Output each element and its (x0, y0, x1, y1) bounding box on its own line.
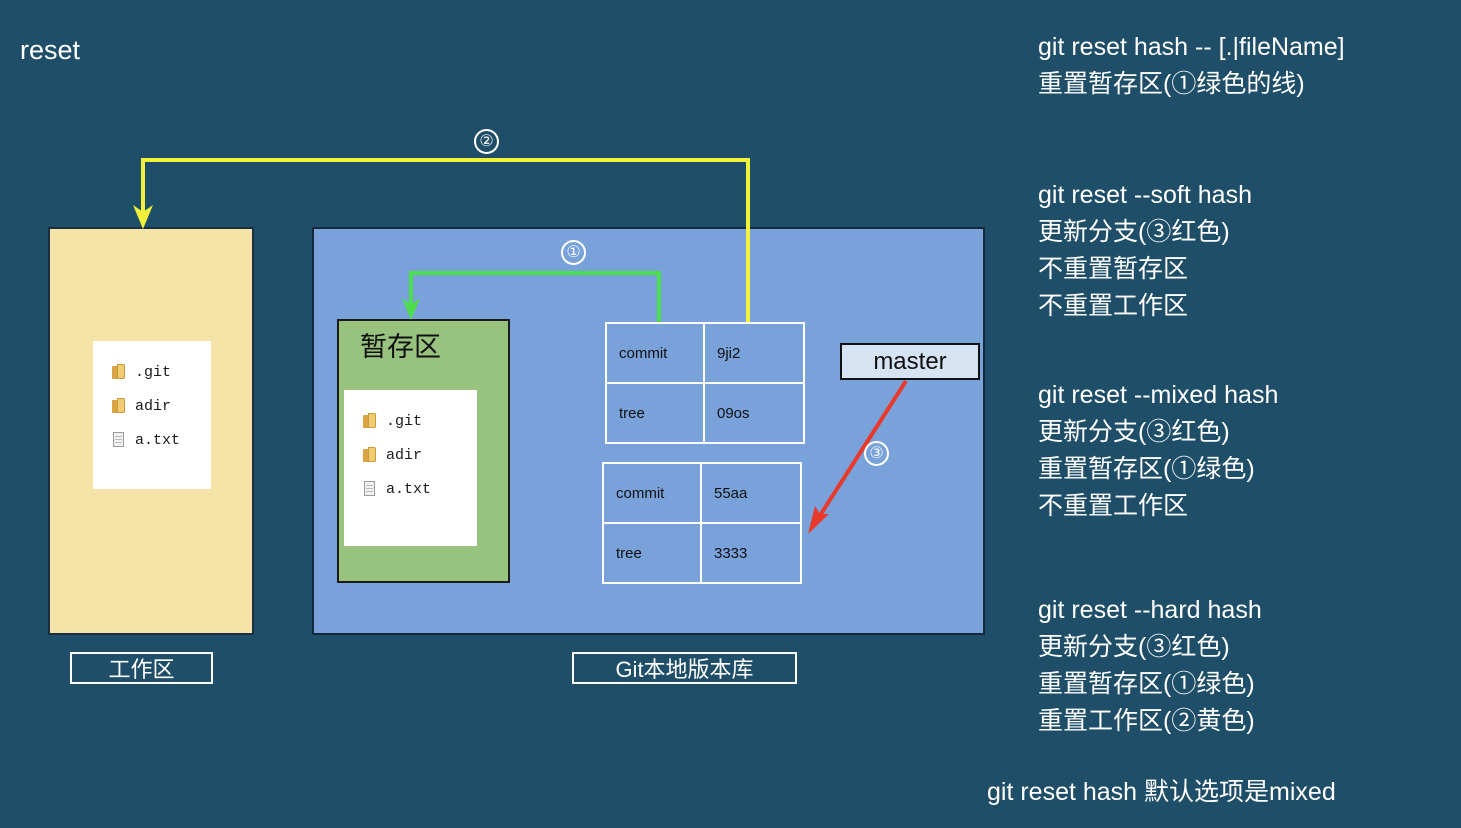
list-item: a.txt (111, 423, 211, 457)
diagram-canvas: reset .git adir a.txt 暂存区 .git (0, 0, 1461, 828)
note-line: 不重置暂存区 (1038, 251, 1252, 288)
list-item: a.txt (362, 472, 477, 506)
working-file-list: .git adir a.txt (93, 341, 211, 457)
note-line: 重置工作区(②黄色) (1038, 703, 1262, 740)
table-row: tree 09os (606, 383, 804, 443)
file-name: .git (135, 364, 171, 381)
folder-icon (111, 397, 127, 415)
file-name: adir (386, 447, 422, 464)
list-item: adir (362, 438, 477, 472)
note-line: 更新分支(③红色) (1038, 214, 1252, 251)
marker-three: ③ (864, 441, 889, 466)
caption-repository: Git本地版本库 (572, 652, 797, 684)
commit-value: 9ji2 (704, 323, 804, 383)
commit-object-table: commit 55aa tree 3333 (602, 462, 802, 584)
file-name: adir (135, 398, 171, 415)
note-line: 重置暂存区(①绿色) (1038, 666, 1262, 703)
list-item: adir (111, 389, 211, 423)
list-item: .git (111, 355, 211, 389)
note-line: 更新分支(③红色) (1038, 414, 1278, 451)
caption-working-area: 工作区 (70, 652, 213, 684)
note-line: 重置暂存区(①绿色) (1038, 451, 1278, 488)
folder-icon (362, 412, 378, 430)
page-title: reset (20, 34, 80, 66)
tree-value: 3333 (701, 523, 801, 583)
list-item: .git (362, 404, 477, 438)
note-line: git reset hash -- [.|fileName] (1038, 29, 1345, 66)
note-block-soft: git reset --soft hash 更新分支(③红色) 不重置暂存区 不… (1038, 177, 1252, 325)
note-line: git reset --hard hash (1038, 592, 1262, 629)
note-footer-default-option: git reset hash 默认选项是mixed (987, 774, 1336, 811)
file-name: .git (386, 413, 422, 430)
note-line: git reset --soft hash (1038, 177, 1252, 214)
note-block-hard: git reset --hard hash 更新分支(③红色) 重置暂存区(①绿… (1038, 592, 1262, 740)
file-icon (111, 431, 127, 449)
note-line: 不重置工作区 (1038, 288, 1252, 325)
folder-icon (111, 363, 127, 381)
marker-one: ① (561, 240, 586, 265)
table-row: tree 3333 (603, 523, 801, 583)
staging-area-file-panel: .git adir a.txt (344, 390, 477, 546)
staging-area-title: 暂存区 (360, 330, 441, 364)
tree-value: 09os (704, 383, 804, 443)
commit-object-table: commit 9ji2 tree 09os (605, 322, 805, 444)
table-row: commit 55aa (603, 463, 801, 523)
staging-file-list: .git adir a.txt (344, 390, 477, 506)
note-block-reset-path: git reset hash -- [.|fileName] 重置暂存区(①绿色… (1038, 29, 1345, 103)
file-name: a.txt (386, 481, 431, 498)
note-line: git reset --mixed hash (1038, 377, 1278, 414)
file-icon (362, 480, 378, 498)
commit-key: commit (606, 323, 704, 383)
marker-two: ② (474, 129, 499, 154)
note-line: 不重置工作区 (1038, 488, 1278, 525)
commit-key: commit (603, 463, 701, 523)
tree-key: tree (603, 523, 701, 583)
tree-key: tree (606, 383, 704, 443)
folder-icon (362, 446, 378, 464)
table-row: commit 9ji2 (606, 323, 804, 383)
note-block-mixed: git reset --mixed hash 更新分支(③红色) 重置暂存区(①… (1038, 377, 1278, 525)
note-line: 重置暂存区(①绿色的线) (1038, 66, 1345, 103)
note-line: 更新分支(③红色) (1038, 629, 1262, 666)
file-name: a.txt (135, 432, 180, 449)
working-area-file-panel: .git adir a.txt (93, 341, 211, 489)
branch-label-master: master (840, 343, 980, 380)
commit-value: 55aa (701, 463, 801, 523)
